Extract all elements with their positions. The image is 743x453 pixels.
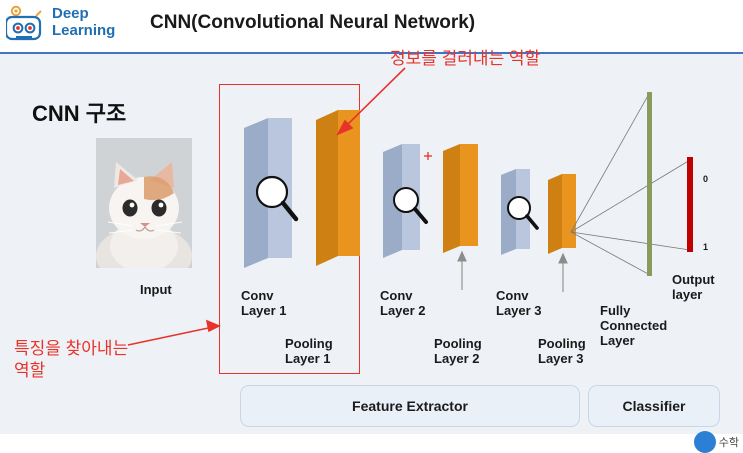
annotation-arrow-top: [338, 68, 405, 134]
bottom-strip: [0, 434, 743, 453]
fully-connected-layer-label: Fully Connected Layer: [600, 303, 667, 348]
conv-layer-3-label: Conv Layer 3: [496, 288, 542, 318]
pooling-layer-3-label: Pooling Layer 3: [538, 336, 586, 366]
conv-layer-1-label: Conv Layer 1: [241, 288, 287, 318]
flow-arrows: [458, 252, 567, 292]
feature-extractor-box: Feature Extractor: [240, 385, 580, 427]
classifier-box: Classifier: [588, 385, 720, 427]
badge-circle-icon: [694, 431, 716, 453]
output-value-1: 1: [703, 240, 708, 255]
pooling-layer-1-label: Pooling Layer 1: [285, 336, 333, 366]
red-plus-marker: [424, 152, 432, 160]
fully-connected-layer-bar: [647, 92, 652, 276]
output-value-0: 0: [703, 172, 708, 187]
badge-label: 수학: [719, 434, 739, 450]
conv-layer-2-label: Conv Layer 2: [380, 288, 426, 318]
slide-canvas: Deep Learning CNN(Convolutional Neural N…: [0, 0, 743, 453]
channel-badge: 수학: [694, 431, 739, 453]
annotation-arrow-left: [128, 321, 219, 345]
output-layer-bar: [687, 157, 693, 252]
fully-connected-edges: [571, 92, 690, 275]
pooling-layer-3-block: [548, 174, 576, 254]
input-label: Input: [140, 282, 172, 297]
pooling-layer-2-label: Pooling Layer 2: [434, 336, 482, 366]
output-layer-label: Output layer: [672, 272, 715, 302]
pooling-layer-2-block: [443, 144, 478, 253]
